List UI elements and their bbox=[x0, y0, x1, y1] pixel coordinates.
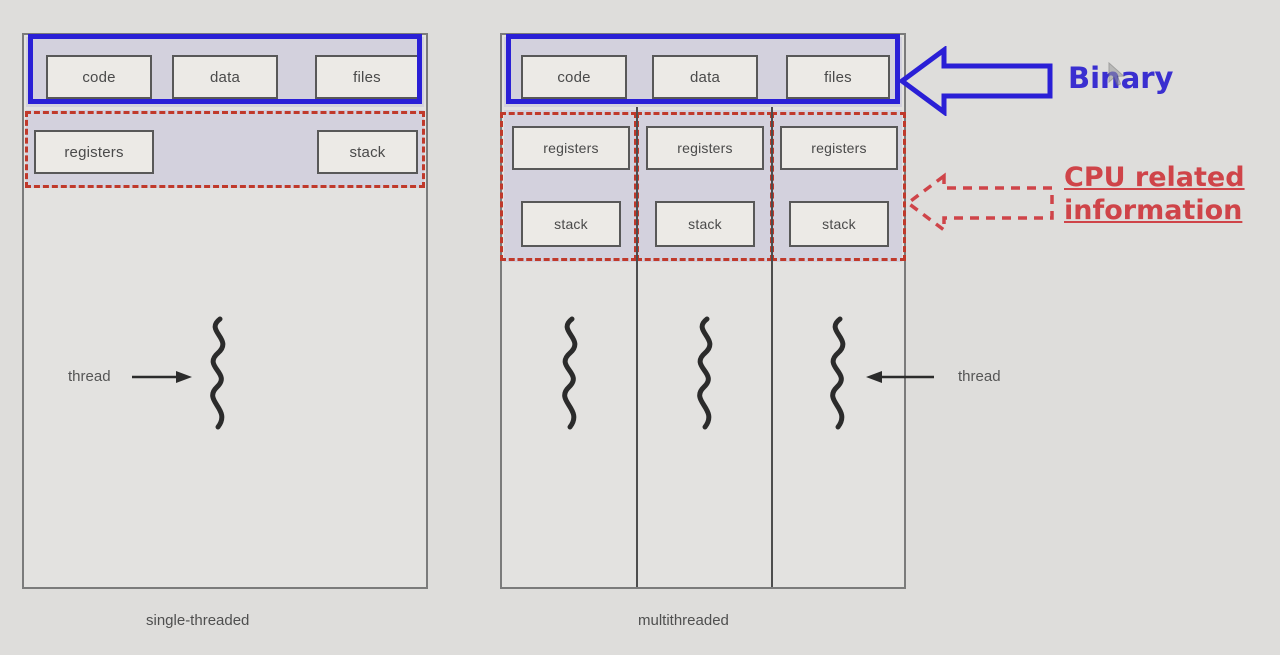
single-threaded-caption: single-threaded bbox=[146, 612, 249, 629]
cpu-info-dashed-arrow-icon bbox=[902, 172, 1058, 234]
multi-col2-stack: stack bbox=[655, 201, 755, 247]
multi-thread-squiggle-2 bbox=[685, 315, 725, 435]
multi-col1-registers: registers bbox=[512, 126, 630, 170]
single-thread-label: thread bbox=[68, 368, 111, 385]
multi-col3-registers: registers bbox=[780, 126, 898, 170]
multi-cell-files: files bbox=[786, 55, 890, 99]
single-cell-code: code bbox=[46, 55, 152, 99]
diagram-canvas: code data files registers stack thread s… bbox=[0, 0, 1280, 655]
single-cell-stack: stack bbox=[317, 130, 418, 174]
multi-col2-registers: registers bbox=[646, 126, 764, 170]
multi-cell-data: data bbox=[652, 55, 758, 99]
single-cell-registers: registers bbox=[34, 130, 154, 174]
multi-thread-squiggle-3 bbox=[818, 315, 858, 435]
multi-thread-label: thread bbox=[958, 368, 1001, 385]
cpu-info-line1: CPU related bbox=[1064, 162, 1245, 195]
single-cell-data: data bbox=[172, 55, 278, 99]
multithreaded-caption: multithreaded bbox=[638, 612, 729, 629]
multi-col1-stack: stack bbox=[521, 201, 621, 247]
multi-divider-1 bbox=[636, 107, 638, 587]
cpu-info-line2: information bbox=[1064, 195, 1245, 228]
multi-thread-arrow-icon bbox=[864, 370, 936, 384]
single-thread-squiggle bbox=[198, 315, 238, 435]
single-thread-arrow-icon bbox=[132, 370, 194, 384]
multi-divider-2 bbox=[771, 107, 773, 587]
binary-block-arrow-icon bbox=[898, 46, 1054, 116]
multi-col3-stack: stack bbox=[789, 201, 889, 247]
multi-cell-code: code bbox=[521, 55, 627, 99]
mouse-pointer-icon bbox=[1108, 62, 1126, 88]
multi-thread-squiggle-1 bbox=[550, 315, 590, 435]
single-cell-files: files bbox=[315, 55, 419, 99]
cpu-info-annotation: CPU related information bbox=[1064, 162, 1245, 228]
